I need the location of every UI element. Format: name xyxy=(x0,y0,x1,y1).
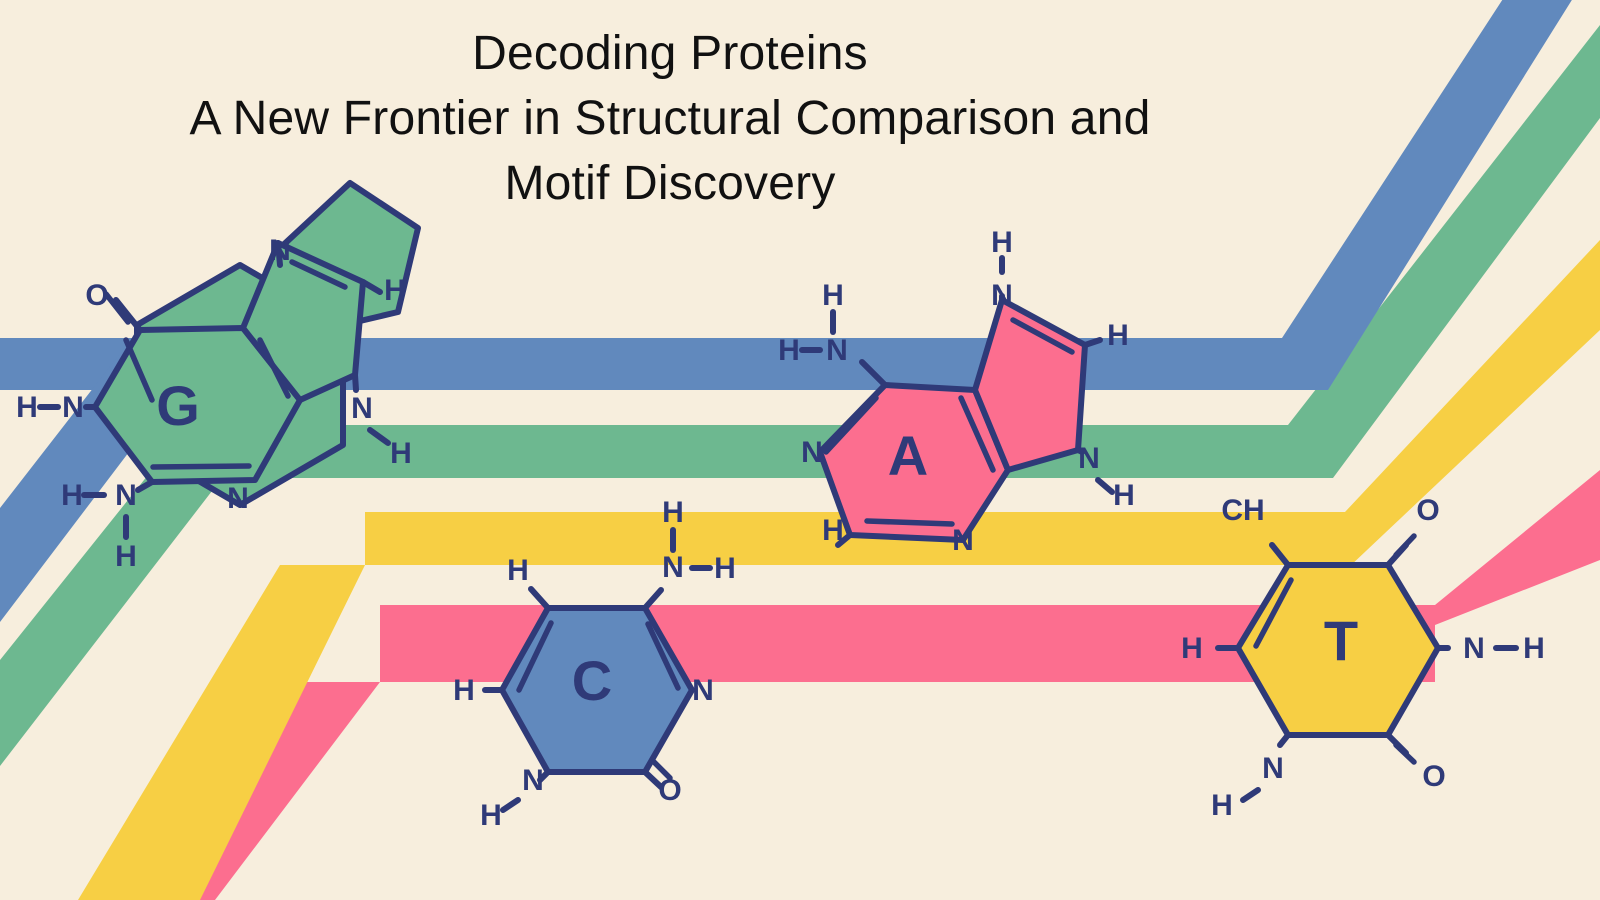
cytosine-letter: C xyxy=(572,649,612,712)
guanine-double-bond-3 xyxy=(153,466,249,467)
cytosine-label-H-topleft: H xyxy=(507,554,529,587)
adenine-label-H-left: H xyxy=(778,334,800,367)
adenine-amine-bond xyxy=(862,362,885,385)
adenine-label-H-top: H xyxy=(822,279,844,312)
cytosine-label-H-amine-top: H xyxy=(662,496,684,529)
guanine-label-H-left: H xyxy=(16,391,38,424)
adenine-label-N-imid-top: N xyxy=(991,279,1013,312)
poster-canvas: Decoding Proteins A New Frontier in Stru… xyxy=(0,0,1600,900)
guanine-imid-n-right-bond xyxy=(355,375,356,390)
adenine-imid-nh-right-bond xyxy=(1098,480,1112,492)
guanine-label-N-imid-right: N xyxy=(351,392,373,425)
cytosine-label-N-right: N xyxy=(692,674,714,707)
cytosine-label-H-left: H xyxy=(453,674,475,707)
thymine-nh-bottom-bond xyxy=(1243,790,1258,800)
guanine-label-N-left: N xyxy=(62,391,84,424)
cytosine-h-topleft-bond xyxy=(531,589,548,608)
thymine-ch3-bond xyxy=(1272,545,1288,565)
thymine-label-O-top: O xyxy=(1416,494,1439,527)
guanine-label-N-lower: N xyxy=(115,479,137,512)
adenine-label-H-bottom: H xyxy=(822,514,844,547)
nucleotide-structures: O N H N H H N N H N H xyxy=(0,0,1600,900)
adenine-label-H-ch: H xyxy=(1107,319,1129,352)
guanine-label-N-bottom: N xyxy=(227,482,249,515)
thymine-co-bottom-bond-b xyxy=(1396,745,1414,762)
molecule-thymine[interactable]: CH O H N H O N H T xyxy=(1181,494,1545,822)
cytosine-label-O: O xyxy=(658,774,681,807)
guanine-label-O: O xyxy=(85,279,108,312)
guanine-label-H-imid: H xyxy=(384,274,406,307)
adenine-letter: A xyxy=(888,424,928,487)
guanine-label-H-down: H xyxy=(115,540,137,573)
thymine-label-N-right: N xyxy=(1463,632,1485,665)
molecule-guanine[interactable]: O N H N H H N N H N H xyxy=(16,183,418,573)
cytosine-nh-bottom-bond xyxy=(503,800,518,810)
guanine-n-bond-lower xyxy=(138,482,152,490)
molecule-adenine[interactable]: N H H N H N N H H N H xyxy=(778,226,1135,557)
adenine-label-N-amine: N xyxy=(826,334,848,367)
cytosine-label-N-bottom: N xyxy=(522,764,544,797)
cytosine-label-N-amine: N xyxy=(662,551,684,584)
guanine-imid-nh-bond xyxy=(370,430,388,443)
guanine-label-N-imid-top: N xyxy=(269,234,291,267)
adenine-label-H-imid-nh: H xyxy=(1113,479,1135,512)
cytosine-label-H-amine-right: H xyxy=(714,552,736,585)
adenine-imid-ch-bond xyxy=(1085,340,1100,345)
thymine-label-N-bottom: N xyxy=(1262,752,1284,785)
guanine-label-H-imid-nh: H xyxy=(390,437,412,470)
guanine-letter: G xyxy=(156,374,200,437)
adenine-label-N-bottom: N xyxy=(952,524,974,557)
molecule-cytosine[interactable]: H N H H H N O N H C xyxy=(453,496,736,832)
cytosine-label-H-bottom: H xyxy=(480,799,502,832)
thymine-letter: T xyxy=(1324,609,1358,672)
thymine-label-H-left: H xyxy=(1181,632,1203,665)
adenine-label-H-imid-top: H xyxy=(991,226,1013,259)
adenine-label-N-imid-right: N xyxy=(1078,442,1100,475)
thymine-label-H-bottom: H xyxy=(1211,789,1233,822)
thymine-label-H-right: H xyxy=(1523,632,1545,665)
adenine-label-N-ring-left: N xyxy=(801,436,823,469)
guanine-label-H-amide-left: H xyxy=(61,479,83,512)
adenine-double-bond-3 xyxy=(867,521,952,524)
thymine-n-bottom-bond xyxy=(1280,735,1288,745)
thymine-label-CH: CH xyxy=(1221,494,1264,527)
cytosine-amine-bond xyxy=(645,590,661,608)
thymine-label-O-bottom: O xyxy=(1422,760,1445,793)
thymine-co-top-bond-b xyxy=(1396,536,1414,555)
